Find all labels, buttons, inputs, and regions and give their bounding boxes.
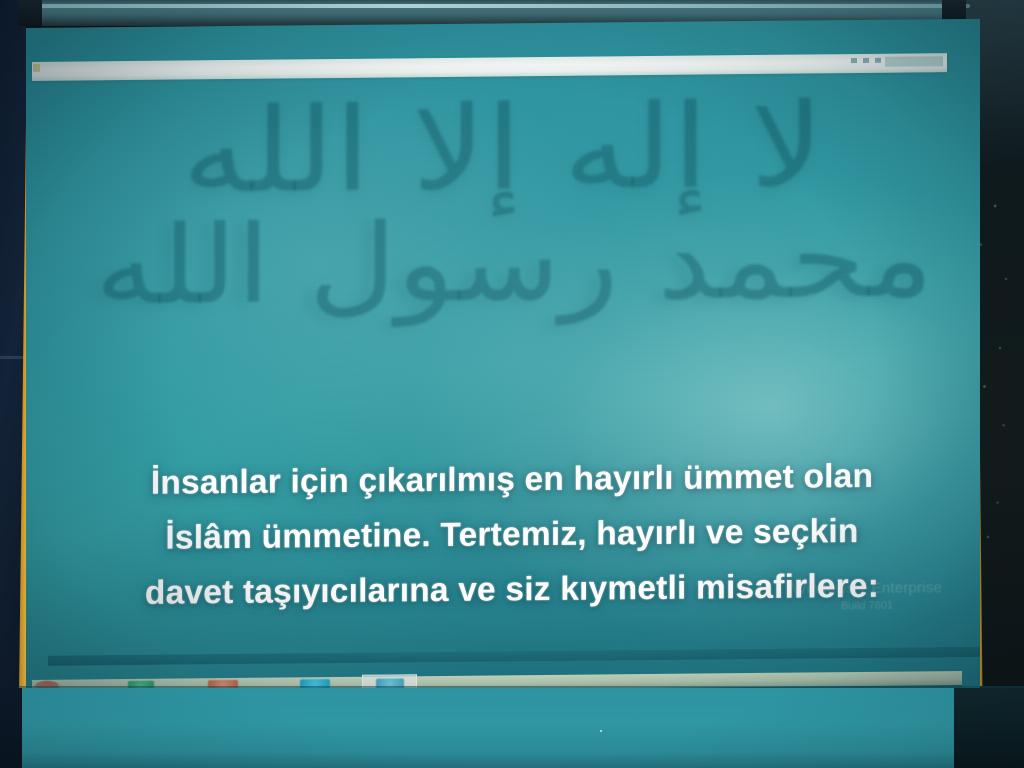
- toolbar-tick-b: [863, 58, 869, 63]
- lower-teal-surface: [18, 688, 1024, 768]
- shahada-line-1-glow: لا إله إلا الله: [26, 74, 980, 233]
- shahada-calligraphy: لا إله إلا الله محمد رسول الله: [26, 71, 980, 480]
- shahada-line-2: محمد رسول الله: [26, 193, 980, 335]
- screen-bottom-weight-bar: [48, 647, 980, 666]
- roller-end-cap-left: [18, 0, 42, 26]
- slide-text-line-1: İnsanlar için çıkarılmış en hayırlı ümme…: [60, 449, 964, 513]
- toolbar-right-segment: [885, 56, 943, 67]
- lower-left-shadow: [0, 688, 22, 768]
- lower-right-shadow: [954, 688, 1024, 768]
- toolbar-tick-c: [851, 58, 857, 63]
- projection-scene: لا إله إلا الله محمد رسول الله لا إله إل…: [0, 0, 1024, 768]
- slide-body-text: İnsanlar için çıkarılmış en hayırlı ümme…: [60, 449, 964, 622]
- wall-seam: [0, 356, 26, 359]
- roller-highlight: [40, 4, 970, 8]
- shahada-calligraphy-glow: لا إله إلا الله محمد رسول الله: [26, 75, 980, 484]
- projected-slide-surface: لا إله إلا الله محمد رسول الله لا إله إل…: [26, 19, 980, 720]
- surface-light-speck: [600, 730, 602, 732]
- toolbar-tick-a: [875, 58, 881, 63]
- shahada-line-1: لا إله إلا الله: [26, 70, 980, 229]
- slide-text-line-2: İslâm ümmetine. Tertemiz, hayırlı ve seç…: [60, 504, 964, 568]
- slide-text-line-3: davet taşıyıcılarına ve siz kıymetli mis…: [60, 559, 964, 623]
- toolbar-left-dot: [33, 64, 40, 72]
- shahada-line-2-glow: محمد رسول الله: [26, 197, 980, 339]
- application-toolbar-band: [32, 53, 947, 81]
